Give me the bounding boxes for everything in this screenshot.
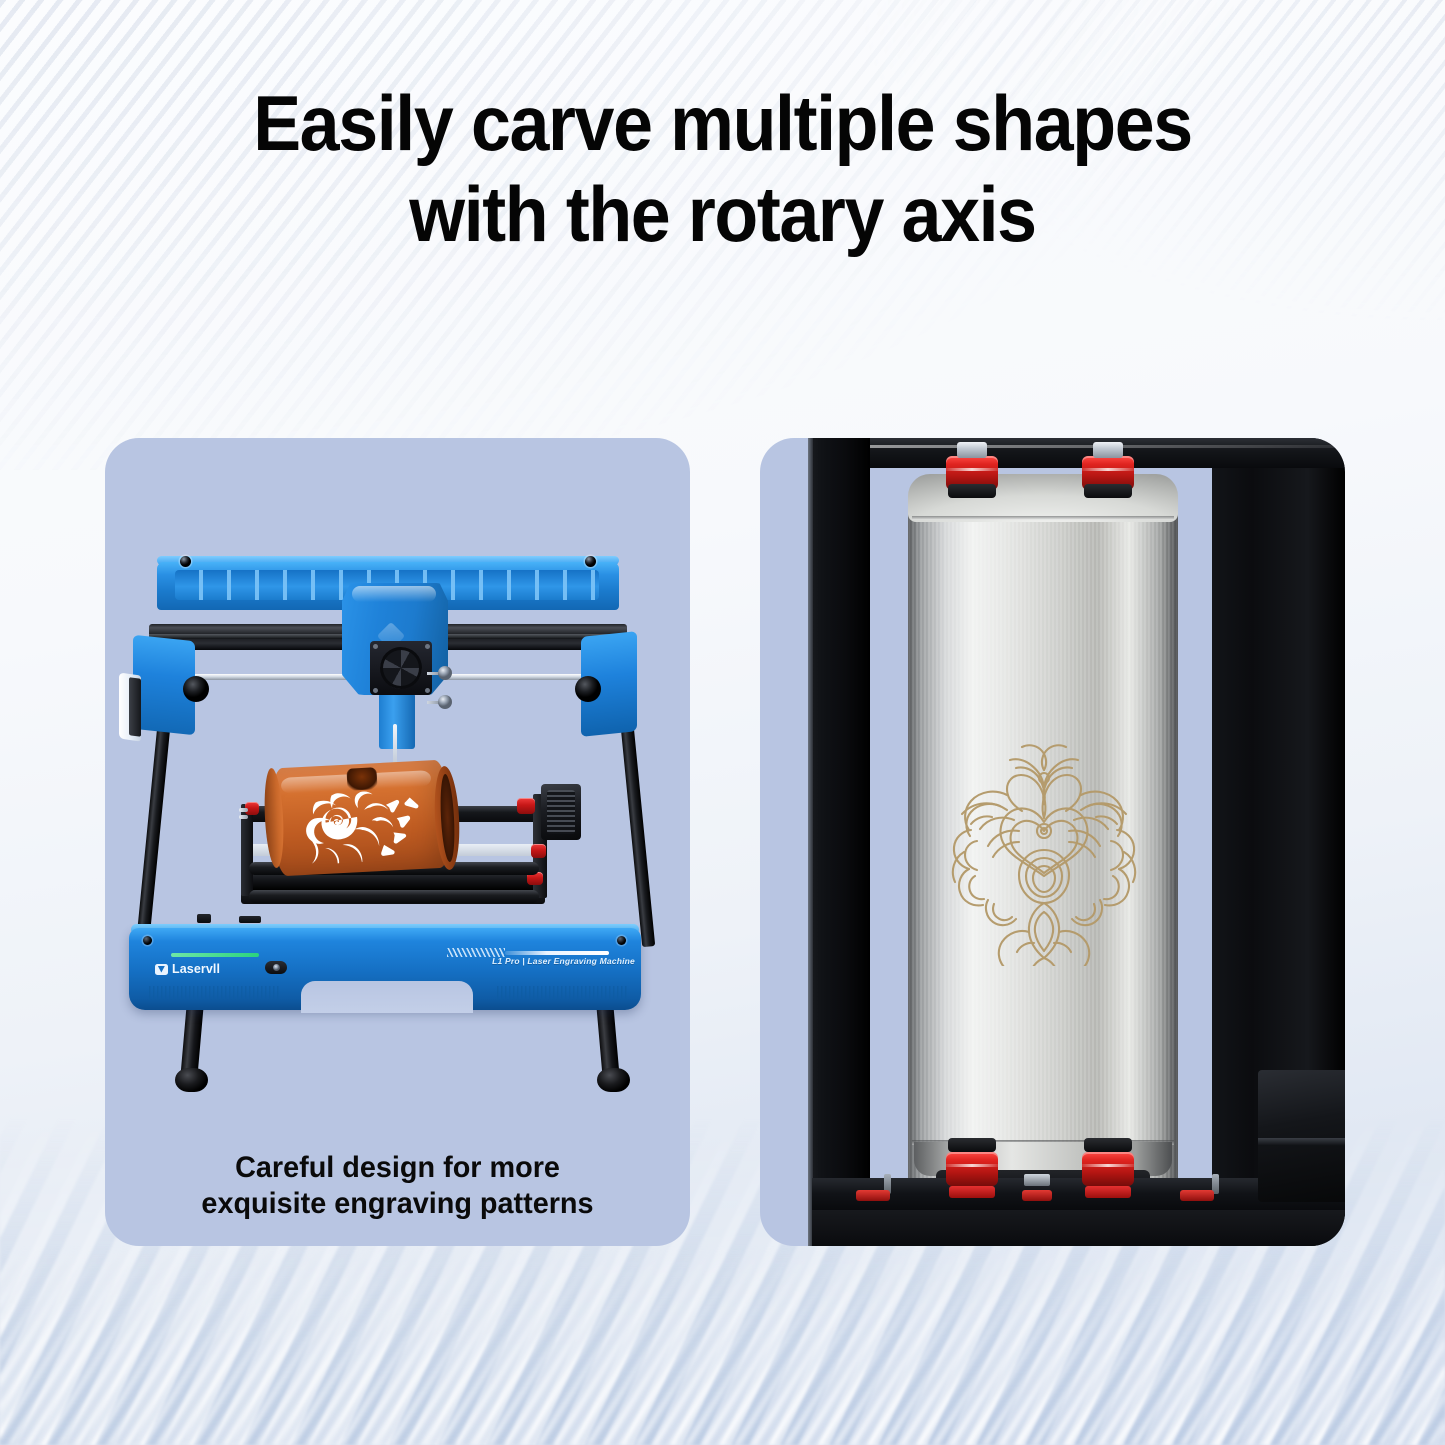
rig-post-left: [808, 438, 870, 1246]
rotary-roller-bar: [249, 890, 539, 903]
screw-icon: [617, 936, 626, 945]
rig-drive-motor: [1258, 1070, 1345, 1202]
roller-foot-small: [1022, 1190, 1052, 1201]
screw-icon: [373, 688, 378, 693]
belt-pulley-left: [183, 676, 209, 702]
rotary-rig-closeup-illustration: [760, 438, 1345, 1246]
roller-mount: [948, 484, 996, 498]
cooling-fan-icon: [370, 641, 432, 695]
rotary-clamp-knob: [517, 798, 535, 814]
roller-foot-small: [856, 1190, 890, 1201]
machine-foot-right: [597, 1068, 630, 1092]
rotary-shaft-pin: [239, 808, 248, 812]
thermos-top-seam: [912, 516, 1174, 520]
brand-badge: Laservll: [155, 962, 220, 976]
screw-icon: [585, 556, 596, 567]
rose-engraving-icon: [285, 782, 439, 866]
headline-line-1: Easily carve multiple shapes: [58, 78, 1387, 169]
rotary-motor-grille: [547, 790, 575, 834]
laser-module-highlight: [352, 586, 436, 602]
machine-foot-left: [175, 1068, 208, 1092]
roller-band: [1082, 468, 1134, 471]
model-label: L1 Pro | Laser Engraving Machine: [435, 956, 635, 966]
belt-pulley-right: [575, 676, 601, 702]
left-feature-panel: L1 Pro | Laser Engraving Machine Laservl…: [105, 438, 690, 1246]
status-led-strip: [171, 953, 259, 957]
roller-hub: [957, 442, 987, 458]
headline-line-2: with the rotary axis: [58, 169, 1387, 260]
red-roller-wheel: [1082, 1152, 1134, 1186]
carriage-left-insert: [129, 677, 141, 737]
rig-post-left-edge: [808, 438, 813, 1246]
roller-band: [1082, 1164, 1134, 1167]
laser-engraver-illustration: L1 Pro | Laser Engraving Machine Laservl…: [105, 438, 690, 1138]
rotary-clamp-knob: [531, 844, 546, 858]
damask-floral-engraving-icon: [928, 700, 1160, 966]
roller-foot-small: [1180, 1190, 1214, 1201]
page-title: Easily carve multiple shapes with the ro…: [58, 78, 1387, 261]
roller-band: [946, 1164, 998, 1167]
rig-drive-motor-band: [1258, 1138, 1345, 1146]
rotary-shaft-pin: [239, 815, 248, 819]
background-streaks-bottom-overlay: [0, 1245, 1445, 1445]
base-light-strip: [505, 951, 609, 955]
screw-icon: [373, 644, 378, 649]
rig-bottom-plate: [812, 1210, 1345, 1246]
rig-center-clip: [1024, 1174, 1050, 1186]
caption-line-2: exquisite engraving patterns: [117, 1186, 679, 1222]
roller-hub: [1093, 442, 1123, 458]
roller-mount: [1084, 484, 1132, 498]
usb-port-icon: [197, 914, 211, 923]
roller-foot: [1085, 1186, 1131, 1198]
base-vent-right: [497, 986, 627, 1000]
red-roller-wheel: [946, 1152, 998, 1186]
roller-mount: [948, 1138, 996, 1152]
focus-knob: [438, 695, 452, 709]
laser-module-neck: [379, 693, 415, 749]
right-feature-panel: [760, 438, 1345, 1246]
roller-mount: [1084, 1138, 1132, 1152]
screw-icon: [143, 936, 152, 945]
focus-knob: [438, 666, 452, 680]
triangle-logo-mark: [155, 964, 168, 975]
base-center-notch: [301, 981, 473, 1013]
base-vent-left: [149, 986, 281, 1000]
caption-line-1: Careful design for more: [117, 1150, 679, 1186]
screw-icon: [425, 644, 430, 649]
roller-foot: [949, 1186, 995, 1198]
screw-icon: [180, 556, 191, 567]
screw-icon: [425, 688, 430, 693]
roller-band: [946, 468, 998, 471]
left-panel-caption: Careful design for more exquisite engrav…: [117, 1150, 679, 1222]
power-button-icon: [265, 961, 287, 974]
brand-name: Laservll: [172, 962, 220, 976]
